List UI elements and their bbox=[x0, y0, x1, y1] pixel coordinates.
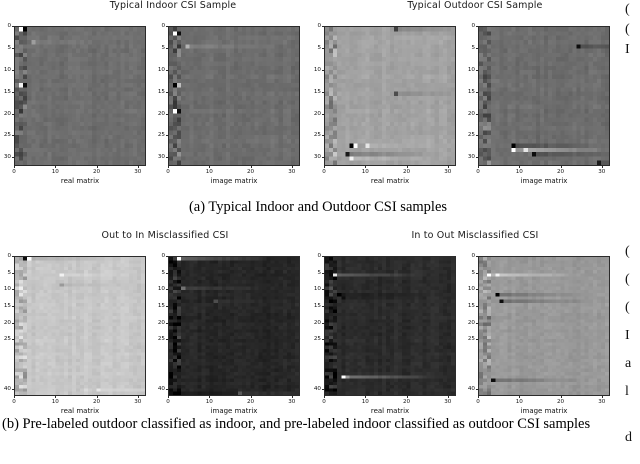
y-tick-label: 15 bbox=[152, 303, 165, 309]
y-tick-mark bbox=[12, 135, 14, 136]
y-tick-label: 20 bbox=[308, 320, 321, 326]
x-tick-mark bbox=[14, 166, 15, 168]
x-tick-mark bbox=[138, 166, 139, 168]
heatmap-axes-in2out-imag bbox=[478, 256, 610, 396]
x-tick-label: 0 bbox=[12, 399, 16, 405]
x-tick-label: 20 bbox=[557, 169, 564, 175]
clipped-glyph: ( bbox=[625, 244, 630, 260]
x-tick-label: 30 bbox=[598, 169, 605, 175]
heatmap-axes-outdoor-real bbox=[324, 26, 456, 166]
group-title-outdoor: Typical Outdoor CSI Sample bbox=[330, 0, 620, 11]
x-tick-label: 30 bbox=[288, 399, 295, 405]
x-axis-label: real matrix bbox=[324, 177, 456, 185]
x-tick-mark bbox=[55, 396, 56, 398]
y-tick-mark bbox=[166, 273, 168, 274]
y-tick-label: 25 bbox=[462, 132, 475, 138]
y-tick-mark bbox=[476, 289, 478, 290]
heatmap-panel-indoor-imag: 0510152025300102030image matrix bbox=[168, 26, 300, 188]
y-tick-label: 0 bbox=[0, 253, 11, 259]
y-tick-mark bbox=[476, 48, 478, 49]
heatmap-image-indoor-real bbox=[15, 27, 145, 165]
clipped-glyph: ( bbox=[625, 2, 630, 18]
y-tick-label: 5 bbox=[308, 45, 321, 51]
y-tick-mark bbox=[166, 135, 168, 136]
y-tick-mark bbox=[166, 289, 168, 290]
y-tick-mark bbox=[322, 157, 324, 158]
x-tick-label: 10 bbox=[516, 399, 523, 405]
x-tick-label: 20 bbox=[93, 399, 100, 405]
clipped-glyph: ( bbox=[625, 300, 630, 316]
x-tick-mark bbox=[97, 396, 98, 398]
x-tick-label: 30 bbox=[444, 169, 451, 175]
y-tick-label: 15 bbox=[0, 89, 11, 95]
y-tick-label: 25 bbox=[152, 132, 165, 138]
y-tick-label: 5 bbox=[0, 270, 11, 276]
y-tick-mark bbox=[476, 389, 478, 390]
x-tick-label: 0 bbox=[166, 399, 170, 405]
x-tick-mark bbox=[168, 396, 169, 398]
y-tick-label: 40 bbox=[152, 386, 165, 392]
x-tick-label: 10 bbox=[362, 399, 369, 405]
y-tick-mark bbox=[12, 273, 14, 274]
x-tick-mark bbox=[365, 396, 366, 398]
y-tick-label: 30 bbox=[152, 154, 165, 160]
y-tick-label: 40 bbox=[308, 386, 321, 392]
figure-page: Typical Indoor CSI Sample Typical Outdoo… bbox=[0, 0, 640, 464]
y-tick-label: 20 bbox=[152, 320, 165, 326]
x-tick-mark bbox=[478, 166, 479, 168]
x-tick-label: 30 bbox=[598, 399, 605, 405]
y-tick-mark bbox=[476, 26, 478, 27]
y-tick-label: 20 bbox=[0, 111, 11, 117]
heatmap-axes-indoor-real bbox=[14, 26, 146, 166]
y-tick-mark bbox=[322, 306, 324, 307]
y-tick-mark bbox=[12, 323, 14, 324]
y-tick-mark bbox=[322, 323, 324, 324]
y-tick-mark bbox=[166, 114, 168, 115]
x-tick-mark bbox=[478, 396, 479, 398]
y-tick-label: 20 bbox=[462, 111, 475, 117]
x-tick-mark bbox=[519, 396, 520, 398]
y-tick-mark bbox=[476, 323, 478, 324]
x-tick-label: 20 bbox=[403, 399, 410, 405]
y-tick-mark bbox=[166, 389, 168, 390]
y-tick-mark bbox=[12, 289, 14, 290]
x-tick-label: 0 bbox=[12, 169, 16, 175]
y-tick-mark bbox=[322, 48, 324, 49]
y-tick-label: 0 bbox=[308, 23, 321, 29]
x-tick-mark bbox=[324, 396, 325, 398]
x-tick-label: 10 bbox=[516, 169, 523, 175]
y-tick-mark bbox=[12, 306, 14, 307]
x-axis-label: image matrix bbox=[478, 177, 610, 185]
heatmap-image-outdoor-imag bbox=[479, 27, 609, 165]
y-tick-mark bbox=[12, 339, 14, 340]
x-tick-label: 10 bbox=[206, 169, 213, 175]
y-tick-label: 15 bbox=[462, 303, 475, 309]
x-tick-label: 20 bbox=[247, 399, 254, 405]
y-tick-label: 10 bbox=[462, 286, 475, 292]
y-tick-mark bbox=[166, 256, 168, 257]
y-tick-mark bbox=[12, 70, 14, 71]
y-tick-mark bbox=[322, 92, 324, 93]
heatmap-image-outdoor-real bbox=[325, 27, 455, 165]
y-tick-mark bbox=[166, 70, 168, 71]
x-tick-label: 30 bbox=[134, 399, 141, 405]
x-tick-mark bbox=[97, 166, 98, 168]
caption-b: (b) Pre-labeled outdoor classified as in… bbox=[2, 416, 622, 433]
x-tick-mark bbox=[168, 166, 169, 168]
y-tick-label: 0 bbox=[308, 253, 321, 259]
y-tick-mark bbox=[12, 48, 14, 49]
y-tick-label: 5 bbox=[152, 45, 165, 51]
x-tick-label: 20 bbox=[557, 399, 564, 405]
y-tick-label: 15 bbox=[308, 89, 321, 95]
y-tick-label: 5 bbox=[462, 270, 475, 276]
y-tick-mark bbox=[322, 273, 324, 274]
clipped-glyph: I bbox=[625, 328, 630, 344]
x-tick-mark bbox=[324, 166, 325, 168]
heatmap-panel-out2in-real: 0510152025400102030real matrix bbox=[14, 256, 146, 418]
clipped-glyph: I bbox=[625, 42, 630, 58]
y-tick-label: 30 bbox=[308, 154, 321, 160]
y-tick-label: 15 bbox=[152, 89, 165, 95]
y-tick-label: 30 bbox=[0, 154, 11, 160]
heatmap-panel-in2out-real: 0510152025400102030real matrix bbox=[324, 256, 456, 418]
y-tick-mark bbox=[12, 92, 14, 93]
x-tick-label: 30 bbox=[134, 169, 141, 175]
heatmap-axes-indoor-imag bbox=[168, 26, 300, 166]
x-axis-label: real matrix bbox=[14, 177, 146, 185]
caption-a: (a) Typical Indoor and Outdoor CSI sampl… bbox=[103, 199, 533, 216]
y-tick-label: 0 bbox=[462, 23, 475, 29]
heatmap-image-indoor-imag bbox=[169, 27, 299, 165]
x-tick-mark bbox=[602, 396, 603, 398]
y-tick-label: 0 bbox=[152, 253, 165, 259]
y-tick-label: 10 bbox=[308, 67, 321, 73]
heatmap-panel-out2in-imag: 0510152025400102030image matrix bbox=[168, 256, 300, 418]
heatmap-axes-out2in-imag bbox=[168, 256, 300, 396]
x-tick-label: 30 bbox=[288, 169, 295, 175]
y-tick-mark bbox=[476, 256, 478, 257]
x-tick-label: 0 bbox=[322, 169, 326, 175]
y-tick-label: 5 bbox=[152, 270, 165, 276]
y-tick-mark bbox=[476, 70, 478, 71]
x-tick-label: 10 bbox=[362, 169, 369, 175]
y-tick-label: 20 bbox=[0, 320, 11, 326]
y-tick-mark bbox=[322, 70, 324, 71]
heatmap-image-out2in-imag bbox=[169, 257, 299, 395]
y-tick-mark bbox=[12, 114, 14, 115]
x-tick-mark bbox=[292, 166, 293, 168]
heatmap-axes-out2in-real bbox=[14, 256, 146, 396]
heatmap-panel-indoor-real: 0510152025300102030real matrix bbox=[14, 26, 146, 188]
y-tick-mark bbox=[476, 273, 478, 274]
y-tick-label: 10 bbox=[0, 286, 11, 292]
y-tick-mark bbox=[322, 26, 324, 27]
y-tick-label: 25 bbox=[308, 336, 321, 342]
y-tick-mark bbox=[476, 135, 478, 136]
y-tick-label: 15 bbox=[462, 89, 475, 95]
clipped-glyph: l bbox=[625, 384, 629, 400]
y-tick-mark bbox=[166, 48, 168, 49]
x-tick-mark bbox=[138, 396, 139, 398]
y-tick-label: 40 bbox=[462, 386, 475, 392]
y-tick-mark bbox=[166, 157, 168, 158]
x-axis-label: real matrix bbox=[324, 407, 456, 415]
x-tick-label: 0 bbox=[476, 399, 480, 405]
group-title-indoor: Typical Indoor CSI Sample bbox=[28, 0, 318, 11]
x-axis-label: image matrix bbox=[168, 177, 300, 185]
heatmap-axes-in2out-real bbox=[324, 256, 456, 396]
x-tick-mark bbox=[365, 166, 366, 168]
y-tick-mark bbox=[322, 389, 324, 390]
heatmap-panel-outdoor-imag: 0510152025300102030image matrix bbox=[478, 26, 610, 188]
y-tick-label: 25 bbox=[0, 132, 11, 138]
heatmap-image-out2in-real bbox=[15, 257, 145, 395]
y-tick-mark bbox=[166, 323, 168, 324]
y-tick-mark bbox=[476, 339, 478, 340]
y-tick-mark bbox=[322, 114, 324, 115]
clipped-glyph: ( bbox=[625, 22, 630, 38]
x-tick-mark bbox=[251, 166, 252, 168]
y-tick-mark bbox=[322, 339, 324, 340]
y-tick-label: 0 bbox=[462, 253, 475, 259]
x-tick-mark bbox=[561, 396, 562, 398]
x-tick-label: 10 bbox=[52, 169, 59, 175]
y-tick-mark bbox=[322, 256, 324, 257]
x-tick-label: 10 bbox=[206, 399, 213, 405]
x-tick-label: 20 bbox=[93, 169, 100, 175]
y-tick-mark bbox=[12, 157, 14, 158]
x-tick-label: 0 bbox=[476, 169, 480, 175]
y-tick-label: 5 bbox=[462, 45, 475, 51]
y-tick-mark bbox=[476, 114, 478, 115]
clipped-glyph: a bbox=[625, 356, 631, 372]
group-title-out-to-in: Out to In Misclassified CSI bbox=[20, 230, 310, 241]
x-tick-label: 0 bbox=[322, 399, 326, 405]
x-tick-mark bbox=[209, 396, 210, 398]
x-tick-mark bbox=[448, 166, 449, 168]
y-tick-mark bbox=[12, 256, 14, 257]
y-tick-label: 10 bbox=[462, 67, 475, 73]
y-tick-label: 10 bbox=[152, 286, 165, 292]
heatmap-image-in2out-real bbox=[325, 257, 455, 395]
x-tick-mark bbox=[561, 166, 562, 168]
x-tick-mark bbox=[602, 166, 603, 168]
y-tick-mark bbox=[476, 157, 478, 158]
y-tick-label: 40 bbox=[0, 386, 11, 392]
x-tick-mark bbox=[55, 166, 56, 168]
y-tick-label: 15 bbox=[308, 303, 321, 309]
y-tick-label: 25 bbox=[308, 132, 321, 138]
y-tick-mark bbox=[166, 92, 168, 93]
clipped-neighbor-column: ( ( I ( ( ( I a l d bbox=[625, 0, 640, 464]
y-tick-label: 10 bbox=[152, 67, 165, 73]
x-tick-mark bbox=[14, 396, 15, 398]
x-axis-label: image matrix bbox=[478, 407, 610, 415]
y-tick-label: 5 bbox=[308, 270, 321, 276]
x-tick-label: 20 bbox=[247, 169, 254, 175]
y-tick-label: 0 bbox=[0, 23, 11, 29]
x-tick-mark bbox=[292, 396, 293, 398]
heatmap-axes-outdoor-imag bbox=[478, 26, 610, 166]
group-title-in-to-out: In to Out Misclassified CSI bbox=[330, 230, 620, 241]
x-tick-label: 0 bbox=[166, 169, 170, 175]
y-tick-label: 20 bbox=[308, 111, 321, 117]
y-tick-label: 5 bbox=[0, 45, 11, 51]
x-tick-mark bbox=[209, 166, 210, 168]
x-tick-label: 30 bbox=[444, 399, 451, 405]
heatmap-image-in2out-imag bbox=[479, 257, 609, 395]
x-tick-mark bbox=[448, 396, 449, 398]
y-tick-mark bbox=[166, 306, 168, 307]
y-tick-label: 25 bbox=[462, 336, 475, 342]
y-tick-mark bbox=[476, 306, 478, 307]
y-tick-label: 25 bbox=[0, 336, 11, 342]
y-tick-mark bbox=[322, 289, 324, 290]
y-tick-mark bbox=[12, 389, 14, 390]
y-tick-label: 30 bbox=[462, 154, 475, 160]
y-tick-mark bbox=[166, 339, 168, 340]
clipped-glyph: d bbox=[625, 430, 632, 446]
y-tick-label: 20 bbox=[462, 320, 475, 326]
x-axis-label: real matrix bbox=[14, 407, 146, 415]
x-tick-mark bbox=[407, 166, 408, 168]
x-tick-mark bbox=[407, 396, 408, 398]
heatmap-panel-outdoor-real: 0510152025300102030real matrix bbox=[324, 26, 456, 188]
y-tick-label: 25 bbox=[152, 336, 165, 342]
x-tick-mark bbox=[519, 166, 520, 168]
y-tick-mark bbox=[476, 92, 478, 93]
y-tick-mark bbox=[166, 26, 168, 27]
heatmap-panel-in2out-imag: 0510152025400102030image matrix bbox=[478, 256, 610, 418]
clipped-glyph: ( bbox=[625, 272, 630, 288]
y-tick-mark bbox=[322, 135, 324, 136]
x-tick-mark bbox=[251, 396, 252, 398]
y-tick-label: 10 bbox=[308, 286, 321, 292]
y-tick-label: 15 bbox=[0, 303, 11, 309]
x-tick-label: 20 bbox=[403, 169, 410, 175]
y-tick-label: 0 bbox=[152, 23, 165, 29]
x-tick-label: 10 bbox=[52, 399, 59, 405]
y-tick-mark bbox=[12, 26, 14, 27]
x-axis-label: image matrix bbox=[168, 407, 300, 415]
y-tick-label: 20 bbox=[152, 111, 165, 117]
y-tick-label: 10 bbox=[0, 67, 11, 73]
